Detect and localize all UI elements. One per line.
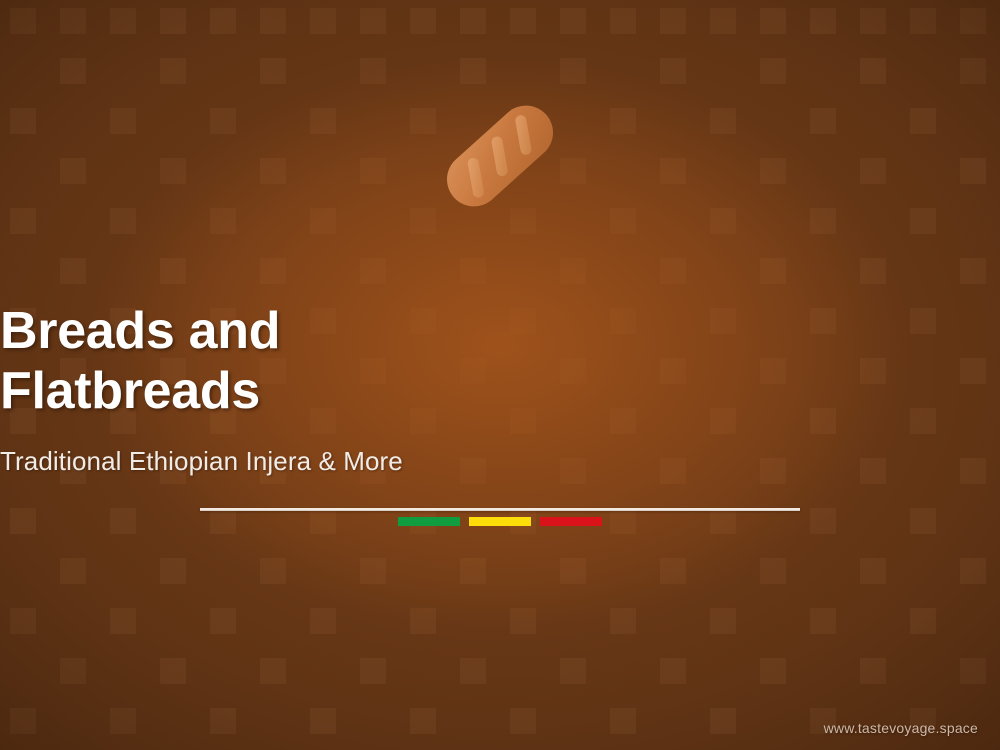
footer-website-url: www.tastevoyage.space <box>824 720 978 736</box>
accent-bar-green <box>398 517 460 526</box>
bread-loaf-icon <box>441 100 559 212</box>
page-subtitle: Traditional Ethiopian Injera & More <box>0 446 1000 477</box>
title-divider <box>200 508 800 511</box>
page-title: Breads and Flatbreads <box>0 302 1000 422</box>
title-slide: Breads and Flatbreads Traditional Ethiop… <box>0 0 1000 750</box>
accent-bar-yellow <box>469 517 531 526</box>
accent-bar-group <box>398 517 602 526</box>
accent-bar-red <box>540 517 602 526</box>
